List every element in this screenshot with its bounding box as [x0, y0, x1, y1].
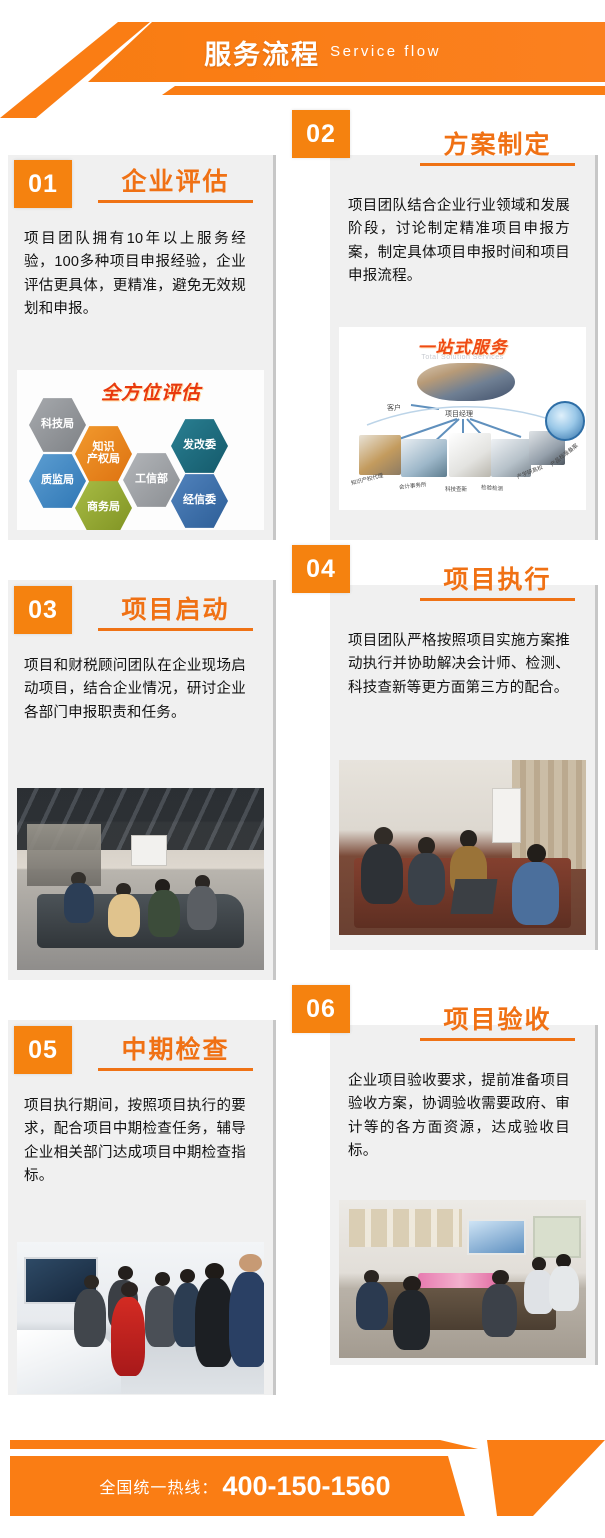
step-title-rule-02 — [420, 163, 575, 166]
hexagon-node-shangwuju: 商务局 — [75, 480, 132, 530]
hexagon-node-label: 工信部 — [135, 474, 168, 486]
hexagon-node-label: 产权局 — [87, 454, 120, 466]
step-media-05 — [17, 1242, 264, 1394]
step-badge-02: 02 — [292, 110, 350, 158]
step-body-04: 项目团队严格按照项目实施方案推动执行并协助解决会计师、检测、科技查新等更方面第三… — [348, 630, 570, 700]
one-stop-node-ip — [359, 435, 401, 475]
step-badge-01: 01 — [14, 160, 72, 208]
step-title-rule-03 — [98, 628, 253, 631]
hexagon-graphic-title: 全方位评估 — [101, 378, 201, 405]
footer-hotline-group: 全国统一热线： 400-150-1560 — [10, 1456, 480, 1516]
step-body-05: 项目执行期间，按照项目执行的要求，配合项目中期检查任务，辅导企业相关部门达成项目… — [24, 1095, 246, 1189]
step-title-rule-06 — [420, 1038, 575, 1041]
service-flow-poster: 服务流程 Service flow 01 企业评估 项目团队拥有10年以上服务经… — [0, 0, 605, 1538]
step-badge-06: 06 — [292, 985, 350, 1033]
hexagon-node-gongxinbu: 工信部 — [123, 452, 180, 508]
step-title-01: 企业评估 — [88, 162, 263, 198]
hotline-number[interactable]: 400-150-1560 — [222, 1471, 390, 1502]
header-underline-stripe — [0, 86, 605, 95]
step-badge-03: 03 — [14, 586, 72, 634]
hexagon-node-label: 科技局 — [41, 419, 74, 431]
step-title-rule-01 — [98, 200, 253, 203]
hexagon-node-fagaiwei: 发改委 — [171, 418, 228, 474]
red-coat-person — [111, 1297, 146, 1376]
step-media-02: 一站式服务 Total Solution Services 客户 项目经理 — [339, 327, 586, 510]
hexagon-node-label: 经信委 — [183, 495, 216, 507]
page-header: 服务流程 Service flow — [0, 0, 605, 118]
header-title-group: 服务流程 Service flow — [0, 22, 605, 82]
step-media-06 — [339, 1200, 586, 1358]
hexagon-node-label: 质监局 — [41, 475, 74, 487]
one-stop-seal-icon — [545, 401, 585, 441]
step-title-02: 方案制定 — [410, 125, 585, 161]
step-badge-05: 05 — [14, 1026, 72, 1074]
step-body-01: 项目团队拥有10年以上服务经验，100多种项目申报经验，企业评估更具体，更精准，… — [24, 228, 246, 322]
step-title-06: 项目验收 — [410, 1000, 585, 1036]
hexagon-node-label: 发改委 — [183, 440, 216, 452]
hotline-label: 全国统一热线： — [99, 1474, 218, 1498]
step-title-04: 项目执行 — [410, 560, 585, 596]
step-media-01: 全方位评估 科技局 知识 产权局 发改委 质监局 工信部 经信委 商务局 — [17, 370, 264, 530]
hexagon-node-zhijianju: 质监局 — [29, 453, 86, 509]
hexagon-node-keji: 科技局 — [29, 397, 86, 453]
step-media-03 — [17, 788, 264, 970]
hexagon-node-zhishichanquan: 知识 产权局 — [75, 425, 132, 483]
one-stop-node-research — [449, 433, 491, 477]
step-title-rule-05 — [98, 1068, 253, 1071]
step-media-04 — [339, 760, 586, 935]
step-title-rule-04 — [420, 598, 575, 601]
step-body-03: 项目和财税顾问团队在企业现场启动项目，结合企业情况，研讨企业各部门申报职责和任务… — [24, 655, 246, 725]
page-footer: 全国统一热线： 400-150-1560 — [0, 1400, 605, 1538]
step-title-03: 项目启动 — [88, 590, 263, 626]
step-title-05: 中期检查 — [88, 1030, 263, 1066]
step-body-06: 企业项目验收要求，提前准备项目验收方案，协调验收需要政府、审计等的各方面资源，达… — [348, 1070, 570, 1164]
one-stop-node-accounting — [401, 439, 447, 477]
page-subtitle: Service flow — [330, 43, 441, 62]
hexagon-node-label: 商务局 — [87, 502, 120, 514]
one-stop-caption: 检验检测 — [481, 483, 504, 493]
one-stop-caption: 科技查新 — [445, 485, 467, 493]
page-title: 服务流程 — [204, 33, 320, 72]
step-badge-04: 04 — [292, 545, 350, 593]
hexagon-node-jingxinwei: 经信委 — [171, 473, 228, 529]
step-body-02: 项目团队结合企业行业领域和发展阶段，讨论制定精准项目申报方案，制定具体项目申报时… — [348, 195, 570, 289]
